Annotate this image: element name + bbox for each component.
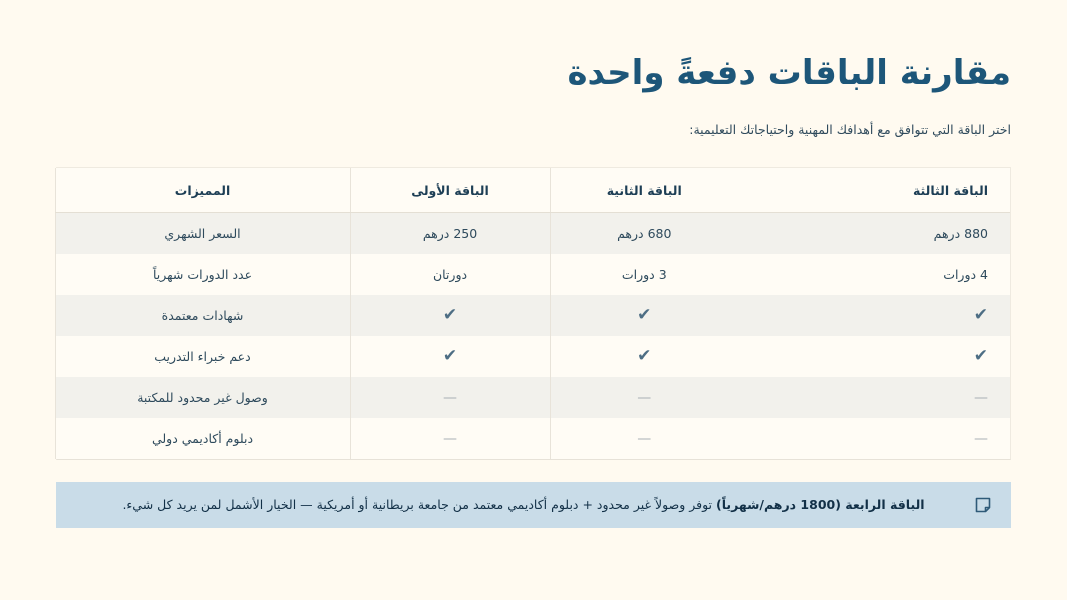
cell-feature-label: شهادات معتمدة: [55, 295, 350, 336]
fourth-plan-notice-banner: الباقة الرابعة (1800 درهم/شهرياً) توفر و…: [56, 482, 1011, 528]
check-icon: ✔: [974, 307, 988, 324]
cell-plan-one: 250 درهم: [350, 213, 550, 255]
cell-plan-three: ✔: [738, 295, 1010, 336]
page-header: مقارنة الباقات دفعةً واحدة اختر الباقة ا…: [0, 0, 1067, 139]
table-row: ✔ ✔ ✔ شهادات معتمدة: [55, 295, 1010, 336]
table-header-row: الباقة الثالثة الباقة الثانية الباقة الأ…: [55, 168, 1010, 213]
table-row: — — — وصول غير محدود للمكتبة: [55, 377, 1010, 418]
check-icon: ✔: [637, 348, 651, 365]
cell-plan-two: ✔: [550, 295, 738, 336]
cell-plan-two: ✔: [550, 336, 738, 377]
cell-feature-label: دبلوم أكاديمي دولي: [55, 418, 350, 459]
dash-icon: —: [974, 391, 988, 405]
page-title: مقارنة الباقات دفعةً واحدة: [56, 52, 1011, 95]
notice-rest-text: توفر وصولاً غير محدود + دبلوم أكاديمي مع…: [122, 497, 716, 512]
check-icon: ✔: [974, 348, 988, 365]
check-icon: ✔: [443, 307, 457, 324]
check-icon: ✔: [443, 348, 457, 365]
dash-icon: —: [637, 391, 651, 405]
column-header-plan-three: الباقة الثالثة: [738, 168, 1010, 213]
cell-plan-one: —: [350, 418, 550, 459]
comparison-table-container: الباقة الثالثة الباقة الثانية الباقة الأ…: [56, 167, 1011, 460]
cell-feature-label: السعر الشهري: [55, 213, 350, 255]
cell-plan-two: 680 درهم: [550, 213, 738, 255]
dash-icon: —: [443, 432, 457, 446]
notice-text: الباقة الرابعة (1800 درهم/شهرياً) توفر و…: [74, 488, 973, 523]
dash-icon: —: [637, 432, 651, 446]
dash-icon: —: [443, 391, 457, 405]
page-subtitle: اختر الباقة التي تتوافق مع أهدافك المهني…: [56, 121, 1011, 140]
cell-plan-one: دورتان: [350, 254, 550, 295]
cell-plan-two: —: [550, 418, 738, 459]
column-header-plan-two: الباقة الثانية: [550, 168, 738, 213]
cell-plan-three: ✔: [738, 336, 1010, 377]
table-row: ✔ ✔ ✔ دعم خبراء التدريب: [55, 336, 1010, 377]
cell-plan-three: —: [738, 418, 1010, 459]
table-body: 880 درهم 680 درهم 250 درهم السعر الشهري …: [55, 213, 1010, 460]
cell-feature-label: دعم خبراء التدريب: [55, 336, 350, 377]
sticky-note-icon: [973, 495, 993, 515]
cell-feature-label: عدد الدورات شهرياً: [55, 254, 350, 295]
cell-plan-one: —: [350, 377, 550, 418]
cell-plan-two: —: [550, 377, 738, 418]
cell-plan-three: —: [738, 377, 1010, 418]
pricing-comparison-page: مقارنة الباقات دفعةً واحدة اختر الباقة ا…: [0, 0, 1067, 600]
dash-icon: —: [974, 432, 988, 446]
check-icon: ✔: [637, 307, 651, 324]
comparison-table: الباقة الثالثة الباقة الثانية الباقة الأ…: [55, 168, 1011, 459]
cell-plan-two: 3 دورات: [550, 254, 738, 295]
table-row: 880 درهم 680 درهم 250 درهم السعر الشهري: [55, 213, 1010, 255]
table-row: — — — دبلوم أكاديمي دولي: [55, 418, 1010, 459]
table-header: الباقة الثالثة الباقة الثانية الباقة الأ…: [55, 168, 1010, 213]
cell-feature-label: وصول غير محدود للمكتبة: [55, 377, 350, 418]
notice-strong-text: الباقة الرابعة (1800 درهم/شهرياً): [716, 497, 925, 512]
table-row: 4 دورات 3 دورات دورتان عدد الدورات شهريا…: [55, 254, 1010, 295]
cell-plan-three: 880 درهم: [738, 213, 1010, 255]
cell-plan-one: ✔: [350, 336, 550, 377]
cell-plan-one: ✔: [350, 295, 550, 336]
cell-plan-three: 4 دورات: [738, 254, 1010, 295]
column-header-features: المميزات: [55, 168, 350, 213]
column-header-plan-one: الباقة الأولى: [350, 168, 550, 213]
